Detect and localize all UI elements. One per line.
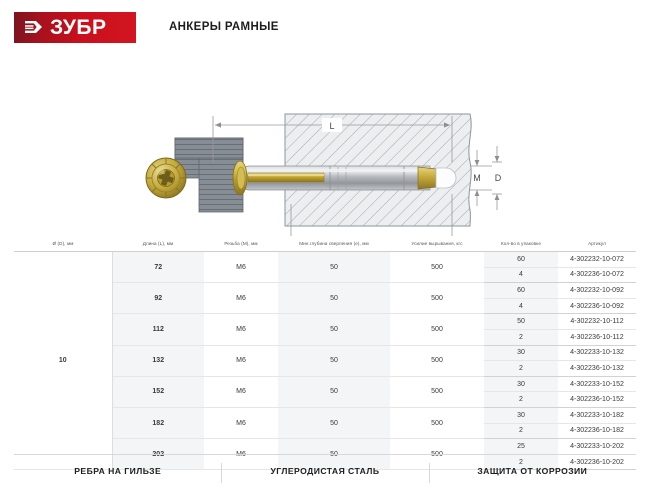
cell-depth: 50 <box>278 314 390 345</box>
cell-length: 152 <box>112 376 204 407</box>
cell-quantity: 30 <box>484 407 558 423</box>
logo-wordmark: ЗУБР <box>50 17 107 38</box>
cell-quantity: 2 <box>484 423 558 439</box>
cell-quantity: 60 <box>484 283 558 299</box>
cell-depth: 50 <box>278 407 390 438</box>
screw-shaft <box>248 173 324 182</box>
cell-quantity: 2 <box>484 361 558 377</box>
cell-length: 182 <box>112 407 204 438</box>
cell-thread: M6 <box>204 314 278 345</box>
cell-article: 4-302233-10-202 <box>558 439 636 455</box>
cell-depth: 50 <box>278 345 390 376</box>
col-header-force: Усилие вырывания, кгс <box>390 236 484 252</box>
spec-table-container: Ø (D), мм Длина (L), мм Резьба (M), мм М… <box>0 236 650 470</box>
cell-force: 500 <box>390 407 484 438</box>
cell-force: 500 <box>390 252 484 283</box>
cell-article: 4-302236-10-132 <box>558 361 636 377</box>
cell-force: 500 <box>390 345 484 376</box>
cell-quantity: 2 <box>484 392 558 408</box>
page-title: АНКЕРЫ РАМНЫЕ <box>169 21 279 33</box>
feature-ribs: РЕБРА НА ГИЛЬЗЕ <box>14 466 221 476</box>
cell-thread: M6 <box>204 407 278 438</box>
spec-table: Ø (D), мм Длина (L), мм Резьба (M), мм М… <box>14 236 636 470</box>
cell-depth: 50 <box>278 283 390 314</box>
screw-head-phillips <box>146 158 186 198</box>
col-header-thread: Резьба (M), мм <box>204 236 278 252</box>
screw-washer <box>233 161 247 195</box>
product-diagram: L e M D <box>0 54 650 236</box>
cell-quantity: 2 <box>484 329 558 345</box>
table-header-row: Ø (D), мм Длина (L), мм Резьба (M), мм М… <box>14 236 636 252</box>
cell-depth: 50 <box>278 252 390 283</box>
cell-article: 4-302233-10-132 <box>558 345 636 361</box>
cell-quantity: 4 <box>484 298 558 314</box>
cell-article: 4-302232-10-092 <box>558 283 636 299</box>
feature-footer: РЕБРА НА ГИЛЬЗЕ УГЛЕРОДИСТАЯ СТАЛЬ ЗАЩИТ… <box>14 454 636 476</box>
cell-quantity: 30 <box>484 376 558 392</box>
brand-logo: ЗУБР <box>14 12 136 43</box>
cell-force: 500 <box>390 283 484 314</box>
col-header-diameter: Ø (D), мм <box>14 236 112 252</box>
page-header: ЗУБР АНКЕРЫ РАМНЫЕ <box>0 0 650 54</box>
cell-thread: M6 <box>204 345 278 376</box>
cell-thread: M6 <box>204 283 278 314</box>
cell-quantity: 4 <box>484 267 558 283</box>
cell-article: 4-302233-10-182 <box>558 407 636 423</box>
cell-article: 4-302236-10-182 <box>558 423 636 439</box>
dimension-M-label: M <box>473 173 481 183</box>
col-header-depth: Мин.глубина сверления (e), мм <box>278 236 390 252</box>
cell-article: 4-302236-10-152 <box>558 392 636 408</box>
cell-diameter: 10 <box>14 252 112 470</box>
cell-force: 500 <box>390 376 484 407</box>
anchor-tip <box>436 168 456 188</box>
cell-article: 4-302233-10-152 <box>558 376 636 392</box>
arrow-right-icon <box>23 18 45 36</box>
cell-article: 4-302232-10-112 <box>558 314 636 330</box>
dimension-L-label: L <box>329 121 334 131</box>
cell-article: 4-302236-10-072 <box>558 267 636 283</box>
cell-length: 112 <box>112 314 204 345</box>
table-row: 1072M650500604-302232-10-072 <box>14 252 636 268</box>
cell-depth: 50 <box>278 376 390 407</box>
feature-steel: УГЛЕРОДИСТАЯ СТАЛЬ <box>221 466 428 476</box>
cell-quantity: 25 <box>484 439 558 455</box>
feature-corrosion: ЗАЩИТА ОТ КОРРОЗИИ <box>429 466 636 476</box>
cell-quantity: 30 <box>484 345 558 361</box>
cell-length: 72 <box>112 252 204 283</box>
cell-quantity: 60 <box>484 252 558 268</box>
cell-article: 4-302236-10-092 <box>558 298 636 314</box>
cell-quantity: 50 <box>484 314 558 330</box>
expansion-cone <box>418 167 436 189</box>
dimension-D-label: D <box>495 173 502 183</box>
col-header-quantity: Кол-во в упаковке <box>484 236 558 252</box>
col-header-article: Артикул <box>558 236 636 252</box>
cell-length: 92 <box>112 283 204 314</box>
cell-article: 4-302236-10-112 <box>558 329 636 345</box>
cell-thread: M6 <box>204 252 278 283</box>
spec-table-body: 1072M650500604-302232-10-07244-302236-10… <box>14 252 636 470</box>
cell-thread: M6 <box>204 376 278 407</box>
cell-force: 500 <box>390 314 484 345</box>
col-header-length: Длина (L), мм <box>112 236 204 252</box>
cell-length: 132 <box>112 345 204 376</box>
cell-article: 4-302232-10-072 <box>558 252 636 268</box>
